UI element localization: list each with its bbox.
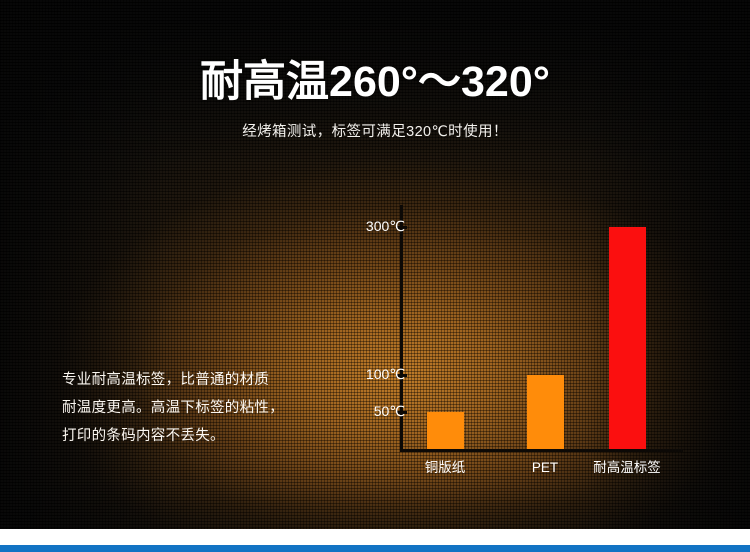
page-subtitle: 经烤箱测试，标签可满足320℃时使用！ [0,122,750,142]
bar-2 [609,227,646,449]
temperature-bar-chart: 300℃ 100℃ 50℃ 铜版纸 PET 耐高温标签 [340,195,700,485]
description-line-3: 打印的条码内容不丢失。 [62,422,332,450]
bar-1 [527,375,564,449]
footer-blue-strip [0,545,750,552]
bar-category-label-2: 耐高温标签 [572,460,682,476]
promo-banner: 耐高温260°～320° 经烤箱测试，标签可满足320℃时使用！ 专业耐高温标签… [0,0,750,552]
footer-white-strip [0,529,750,545]
y-tick-label-2: 50℃ [325,404,405,418]
y-tick-label-0: 300℃ [325,219,405,233]
chart-x-axis [400,449,683,452]
description-line-2: 耐温度更高。高温下标签的粘性， [62,394,332,422]
description-paragraph: 专业耐高温标签，比普通的材质 耐温度更高。高温下标签的粘性， 打印的条码内容不丢… [62,366,332,450]
description-line-1: 专业耐高温标签，比普通的材质 [62,366,332,394]
bar-0 [427,412,464,449]
page-title: 耐高温260°～320° [0,55,750,109]
y-tick-label-1: 100℃ [325,367,405,381]
bar-category-label-0: 铜版纸 [390,460,500,476]
